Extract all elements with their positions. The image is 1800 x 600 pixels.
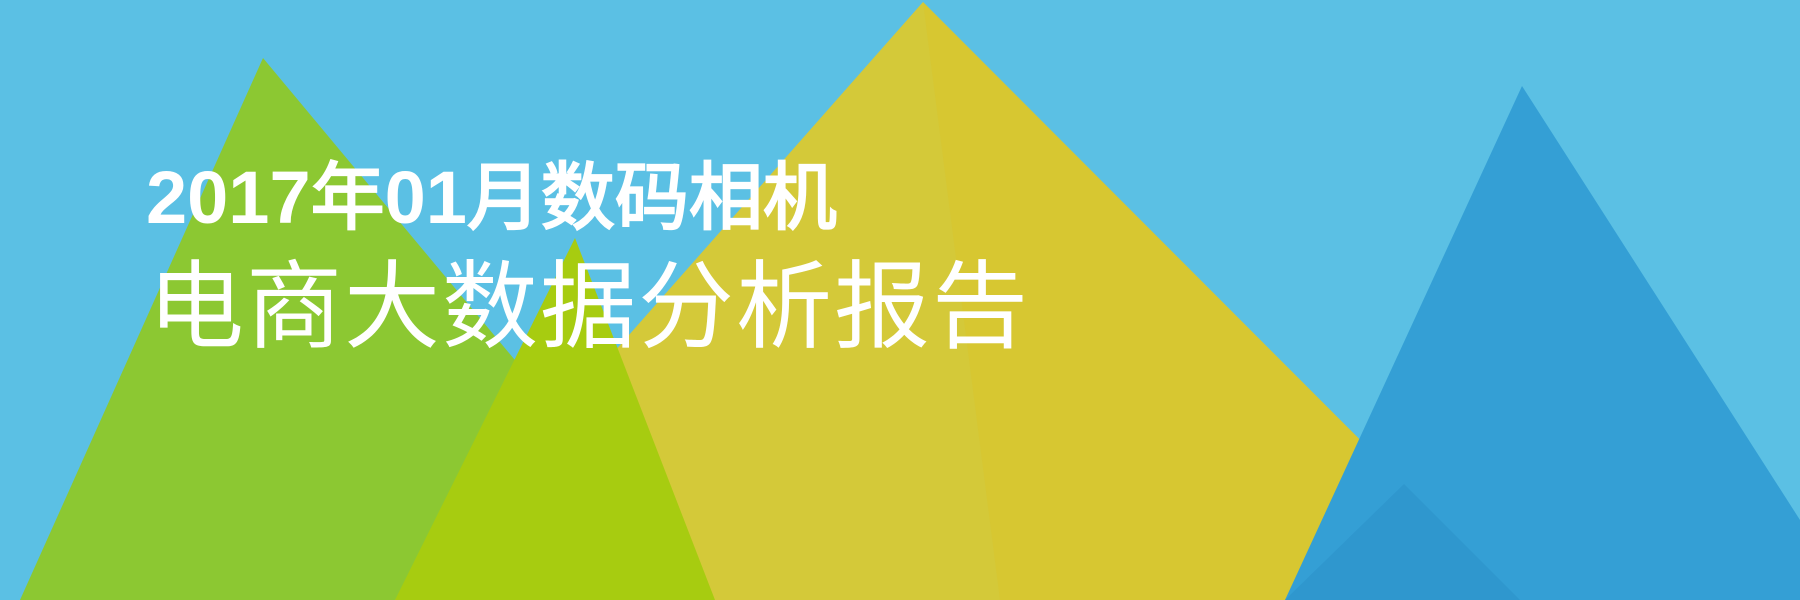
mountain-background-graphic (0, 0, 1800, 600)
report-cover-banner: 2017年01月数码相机 电商大数据分析报告 (0, 0, 1800, 600)
